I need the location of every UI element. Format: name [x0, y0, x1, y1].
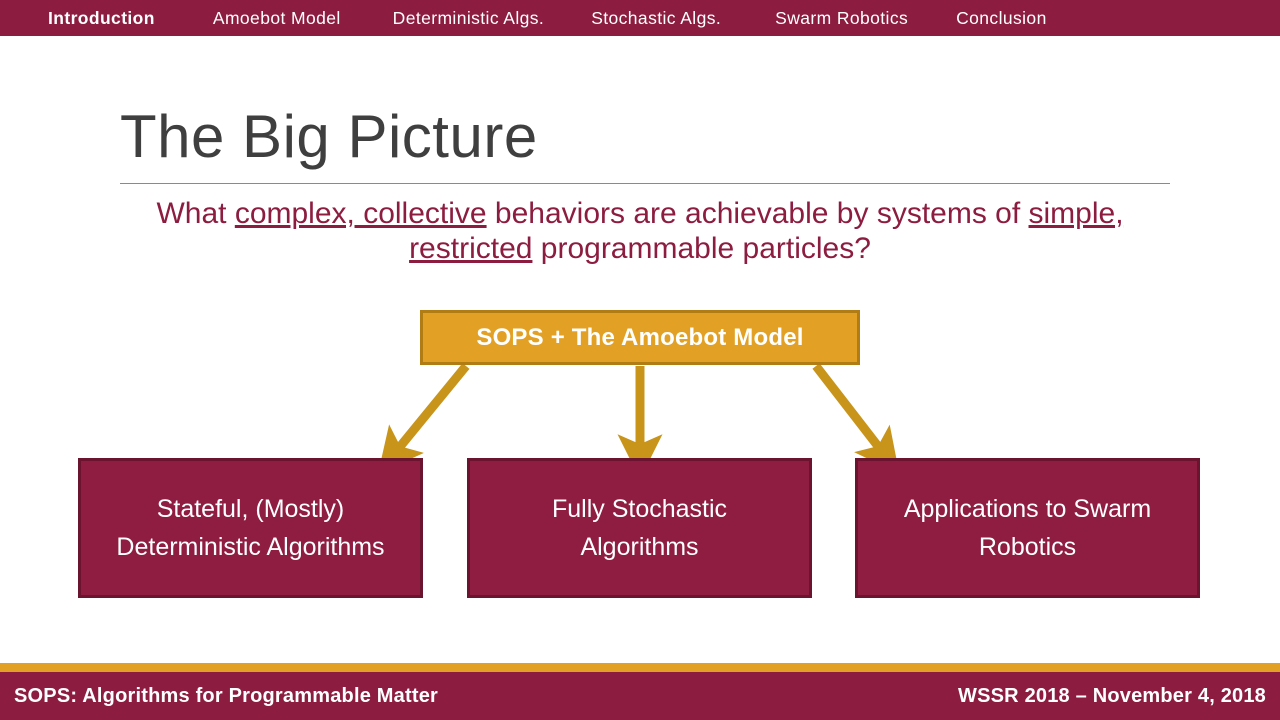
leaf-label-line1: Stateful, (Mostly): [157, 495, 345, 523]
footer-gold-stripe: [0, 663, 1280, 672]
arrow-to-deterministic: [394, 366, 466, 454]
diagram-node-swarm-robotics[interactable]: Applications to Swarm Robotics: [855, 458, 1200, 598]
title-divider-rule: [120, 183, 1170, 184]
footer-right-text: WSSR 2018 – November 4, 2018: [958, 685, 1266, 708]
nav-item-conclusion[interactable]: Conclusion: [956, 0, 1047, 36]
subtitle-text-part1: What: [156, 197, 234, 230]
slide-subtitle-question: What complex, collective behaviors are a…: [140, 196, 1140, 266]
subtitle-text-part3: programmable particles?: [532, 232, 870, 265]
nav-item-swarm-robotics[interactable]: Swarm Robotics: [775, 0, 908, 36]
diagram-node-stochastic-algorithms[interactable]: Fully Stochastic Algorithms: [467, 458, 812, 598]
leaf-label-wrapper: Fully Stochastic Algorithms: [552, 490, 727, 566]
nav-item-deterministic-algs[interactable]: Deterministic Algs.: [393, 0, 545, 36]
footer-bar: SOPS: Algorithms for Programmable Matter…: [0, 672, 1280, 720]
leaf-label-line1: Applications to Swarm: [904, 495, 1151, 523]
slide-title: The Big Picture: [120, 103, 538, 171]
nav-item-stochastic-algs[interactable]: Stochastic Algs.: [591, 0, 721, 36]
leaf-label-line1: Fully Stochastic: [552, 495, 727, 523]
arrow-to-swarm-robotics: [816, 366, 884, 454]
leaf-label-line2: Robotics: [979, 533, 1076, 561]
leaf-label-line2: Deterministic Algorithms: [116, 533, 384, 561]
leaf-label-wrapper: Applications to Swarm Robotics: [904, 490, 1151, 566]
diagram-node-root-sops-amoebot-model[interactable]: SOPS + The Amoebot Model: [420, 310, 860, 365]
top-navigation-bar: Introduction Amoebot Model Deterministic…: [0, 0, 1280, 36]
nav-item-amoebot-model[interactable]: Amoebot Model: [213, 0, 341, 36]
diagram-node-deterministic-algorithms[interactable]: Stateful, (Mostly) Deterministic Algorit…: [78, 458, 423, 598]
subtitle-emphasis-complex-collective: complex, collective: [235, 197, 487, 230]
leaf-label-line2: Algorithms: [580, 533, 698, 561]
leaf-label-wrapper: Stateful, (Mostly) Deterministic Algorit…: [116, 490, 384, 566]
nav-item-introduction[interactable]: Introduction: [48, 0, 155, 36]
footer-left-text: SOPS: Algorithms for Programmable Matter: [14, 685, 438, 708]
subtitle-text-part2: behaviors are achievable by systems of: [487, 197, 1029, 230]
